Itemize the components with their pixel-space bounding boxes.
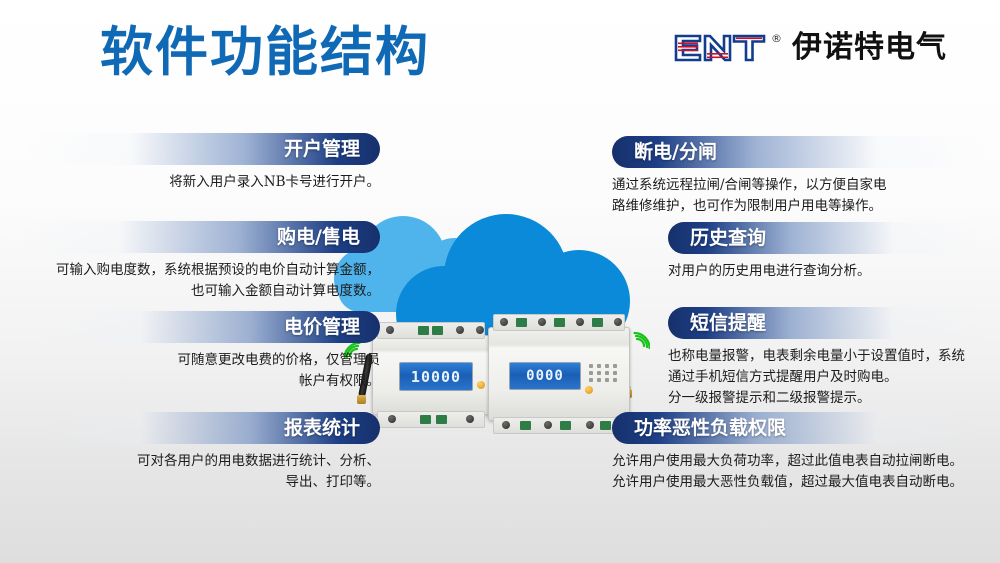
registered-mark-icon: ® <box>771 32 782 45</box>
feature-title: 短信提醒 <box>690 307 766 339</box>
feature-pill: 功率恶性负载权限 <box>612 412 990 444</box>
feature-description: 可随意更改电费的价格，仅管理员 帐户有权限。 <box>38 350 380 392</box>
feature-duandian-fenzha[interactable]: 断电/分闸 通过系统远程拉闸/合闸等操作，以方便自家电 路维修维护，也可作为限制… <box>612 136 990 217</box>
meter-indicator-leds <box>589 364 618 382</box>
feature-title: 购电/售电 <box>277 221 360 253</box>
meter-lcd-left: 10000 <box>399 362 473 391</box>
page-title: 软件功能结构 <box>100 23 430 84</box>
feature-goudian-shoudian[interactable]: 购电/售电 可输入购电度数，系统根据预设的电价自动计算金额， 也可输入金额自动计… <box>8 221 380 302</box>
meter-lcd-right: 0000 <box>509 362 581 390</box>
feature-title: 开户管理 <box>284 133 360 165</box>
meter-terminal-block-top-right <box>493 314 625 331</box>
feature-title: 电价管理 <box>284 311 360 343</box>
meter-terminal-block-bottom-right <box>493 417 625 434</box>
feature-lishi-chaxun[interactable]: 历史查询 对用户的历史用电进行查询分析。 <box>668 222 990 282</box>
feature-description: 对用户的历史用电进行查询分析。 <box>668 261 990 282</box>
feature-title: 报表统计 <box>284 412 360 444</box>
meter-body-left: 10000 <box>372 335 490 415</box>
meter-terminal-block-bottom-left <box>377 411 485 428</box>
feature-duanxin-tixing[interactable]: 短信提醒 也称电量报警，电表剩余电量小于设置值时，系统 通过手机短信方式提醒用户… <box>668 307 990 409</box>
feature-title: 断电/分闸 <box>634 136 717 168</box>
slide-canvas: 软件功能结构 ® 伊诺特电气 <box>0 0 1000 563</box>
feature-pill: 开户管理 <box>24 133 380 165</box>
feature-title: 历史查询 <box>690 222 766 254</box>
meter-button-right[interactable] <box>585 386 593 394</box>
feature-gonglv-exing-fuzai-quanxian[interactable]: 功率恶性负载权限 允许用户使用最大负荷功率，超过此值电表自动拉闸断电。 允许用户… <box>612 412 990 493</box>
feature-pill: 历史查询 <box>668 222 990 254</box>
feature-description: 可对各用户的用电数据进行统计、分析、 导出、打印等。 <box>38 451 380 493</box>
ent-logo-mark <box>672 31 768 65</box>
feature-description: 通过系统远程拉闸/合闸等操作，以方便自家电 路维修维护，也可作为限制用户用电等操… <box>612 175 990 217</box>
feature-kaihu-guanli[interactable]: 开户管理 将新入用户录入NB卡号进行开户。 <box>24 133 380 193</box>
feature-pill: 购电/售电 <box>8 221 380 253</box>
meter-body-right: 0000 <box>488 327 630 421</box>
feature-baobiao-tongji[interactable]: 报表统计 可对各用户的用电数据进行统计、分析、 导出、打印等。 <box>38 412 380 493</box>
smart-meter-graphic: 10000 <box>372 325 632 430</box>
feature-pill: 短信提醒 <box>668 307 990 339</box>
feature-description: 允许用户使用最大负荷功率，超过此值电表自动拉闸断电。 允许用户使用最大恶性负载值… <box>612 451 990 493</box>
feature-description: 也称电量报警，电表剩余电量小于设置值时，系统 通过手机短信方式提醒用户及时购电。… <box>668 346 990 409</box>
ent-wordmark-icon <box>672 31 768 65</box>
meter-button-left[interactable] <box>477 381 485 389</box>
meter-terminal-block-top-left <box>377 322 485 339</box>
feature-description: 可输入购电度数，系统根据预设的电价自动计算金额， 也可输入金额自动计算电度数。 <box>8 260 380 302</box>
feature-dianjia-guanli[interactable]: 电价管理 可随意更改电费的价格，仅管理员 帐户有权限。 <box>38 311 380 392</box>
feature-pill: 报表统计 <box>38 412 380 444</box>
brand-name-cn: 伊诺特电气 <box>792 31 947 65</box>
feature-pill: 电价管理 <box>38 311 380 343</box>
feature-description: 将新入用户录入NB卡号进行开户。 <box>24 172 380 193</box>
feature-pill: 断电/分闸 <box>612 136 990 168</box>
brand-logo: ® 伊诺特电气 <box>672 31 947 65</box>
feature-title: 功率恶性负载权限 <box>634 412 786 444</box>
